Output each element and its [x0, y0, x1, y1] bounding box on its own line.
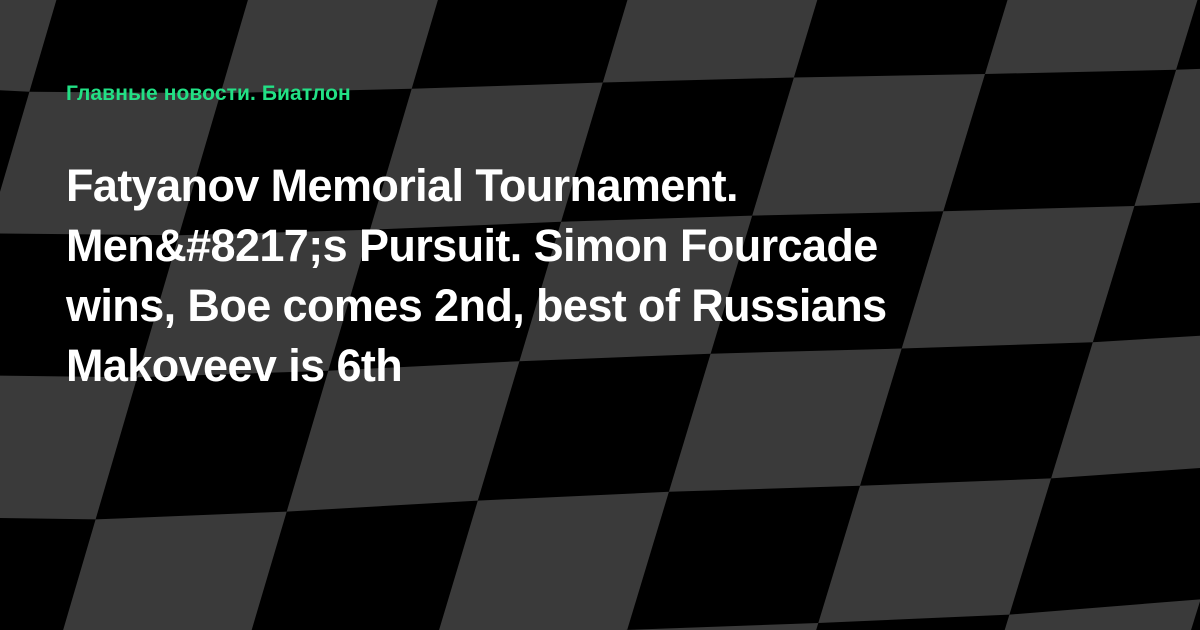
headline-line-3: wins, Boe comes 2nd, best of Russians	[66, 276, 1076, 336]
kicker-category-label: Главные новости. Биатлон	[66, 80, 351, 108]
social-share-card: Главные новости. Биатлон Fatyanov Memori…	[0, 0, 1200, 630]
headline-line-4: Makoveev is 6th	[66, 336, 1076, 396]
headline-line-1: Fatyanov Memorial Tournament.	[66, 156, 1076, 216]
headline-line-2: Men&#8217;s Pursuit. Simon Fourcade	[66, 216, 1076, 276]
card-content: Главные новости. Биатлон Fatyanov Memori…	[0, 0, 1200, 630]
page-title: Fatyanov Memorial Tournament. Men&#8217;…	[66, 156, 1076, 396]
